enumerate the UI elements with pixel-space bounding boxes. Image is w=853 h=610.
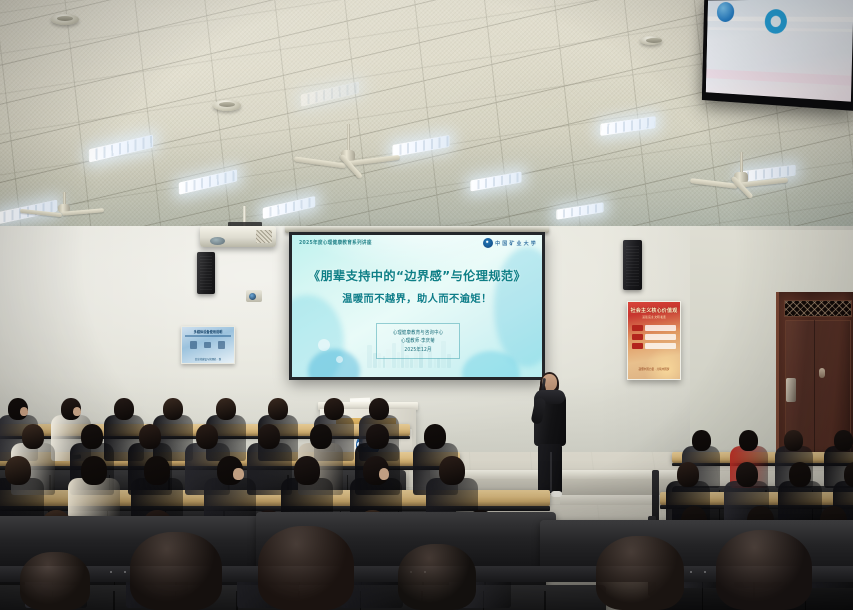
poster-sun-glow — [644, 347, 681, 380]
audience-member-head — [258, 424, 280, 449]
foreground-head — [20, 552, 90, 610]
smoke-detector-icon — [213, 100, 241, 111]
ceiling-fan — [318, 124, 378, 186]
audience-member-head — [736, 462, 758, 487]
slide-title: 《朋辈支持中的“边界感”与伦理规范》 — [292, 266, 542, 284]
university-logo: 中 国 矿 业 大 学 — [483, 238, 536, 248]
audience-member-head — [677, 462, 699, 487]
audience-member-head — [139, 424, 161, 449]
foreground-head — [130, 532, 222, 610]
audience-member-head — [844, 462, 853, 487]
slide-subtitle: 温暖而不越界，助人而不逾矩！ — [292, 290, 542, 305]
foreground-head — [258, 526, 354, 610]
audience-member-head — [366, 424, 388, 449]
audience-member-head — [22, 424, 44, 449]
slide-presenter-card: 心理健康教育与咨询中心 心理教师·李庆菊 2025年12月 — [376, 323, 460, 359]
audience-member-head — [216, 398, 236, 420]
monitor-screen — [706, 0, 853, 102]
audience-member-head — [369, 398, 389, 420]
audience-member-head — [268, 398, 288, 420]
audience-member-head — [324, 398, 344, 420]
foreground-head — [716, 530, 812, 610]
poster-right-footer: 凝聚中国力量 · 共筑中国梦 — [628, 367, 680, 371]
audience-member-head — [739, 430, 758, 451]
audience-member-face — [379, 468, 389, 480]
audience-member-head — [439, 456, 465, 485]
lecture-hall-screenshot: 2025年度心理健康教育系列讲座 中 国 矿 业 大 学 《朋辈支持中的“边界感… — [0, 0, 853, 610]
foreground-audience-member — [258, 526, 354, 610]
slide-card-line: 2025年12月 — [404, 346, 431, 353]
projector-vent — [256, 230, 272, 243]
university-logo-text: 中 国 矿 业 大 学 — [495, 240, 536, 247]
audience-member-head — [81, 424, 103, 449]
foreground-audience-member — [716, 530, 812, 610]
rail-fastener — [704, 571, 706, 573]
foreground-audience-member — [130, 532, 222, 610]
slide-decor-dot — [318, 339, 330, 351]
projection-screen: 2025年度心理健康教育系列讲座 中 国 矿 业 大 学 《朋辈支持中的“边界感… — [289, 232, 545, 380]
presentation-slide: 2025年度心理健康教育系列讲座 中 国 矿 业 大 学 《朋辈支持中的“边界感… — [292, 235, 542, 377]
audience-member-face — [233, 468, 243, 480]
audience-member-head — [294, 456, 320, 485]
audience-member-head — [81, 456, 107, 485]
wall-speaker-right — [623, 240, 642, 290]
audience-member-head — [163, 398, 183, 420]
audience-member-head — [692, 430, 711, 451]
poster-left-title: 多媒体设备使用说明 — [182, 329, 234, 334]
slide-decor-dot — [336, 356, 343, 363]
audience-member-head — [784, 430, 803, 451]
door-seam — [814, 320, 815, 458]
wall-speaker-left — [197, 252, 215, 294]
projector-lens-icon — [210, 237, 225, 245]
poster-right-title: 社会主义核心价值观 — [628, 307, 680, 314]
slide-header-text: 2025年度心理健康教育系列讲座 — [299, 240, 372, 247]
audience-member-head — [834, 430, 853, 451]
audience-member-head — [196, 424, 218, 449]
audience-member-head — [789, 462, 811, 487]
foreground-audience-member — [398, 544, 476, 610]
poster-equipment-instructions: 多媒体设备使用说明 信息化建设与管理处 · 制 — [181, 326, 235, 364]
audience-member-head — [114, 398, 134, 420]
audience-member-head — [424, 424, 446, 449]
presenter — [528, 374, 572, 500]
door-handle-icon[interactable] — [786, 378, 796, 402]
poster-left-figure — [190, 341, 197, 349]
poster-left-figure — [204, 342, 211, 348]
ceiling-fan — [712, 152, 770, 210]
poster-left-figure — [218, 341, 225, 349]
screen-frame: 2025年度心理健康教育系列讲座 中 国 矿 业 大 学 《朋辈支持中的“边界感… — [289, 232, 545, 380]
poster-left-divider — [185, 335, 231, 337]
audience-member-head — [5, 456, 31, 485]
foreground-head — [596, 536, 684, 610]
foreground-audience-member — [596, 536, 684, 610]
presenter-shoe — [551, 491, 562, 497]
smoke-detector-icon — [640, 36, 662, 45]
audience-member-head — [310, 424, 332, 449]
door-peephole-icon — [819, 368, 825, 378]
presenter-leg-split — [550, 452, 552, 492]
audience-member-head — [144, 456, 170, 485]
foreground-head — [398, 544, 476, 610]
poster-core-values: 社会主义核心价值观 富强 民主 文明 和谐 凝聚中国力量 · 共筑中国梦 — [627, 301, 681, 380]
slide-card-line: 心理健康教育与咨询中心 — [393, 329, 444, 336]
foreground-audience-member — [20, 552, 90, 610]
slide-card-line: 心理教师·李庆菊 — [401, 338, 435, 345]
door-transom-window — [784, 300, 852, 317]
wall-display-monitor[interactable] — [702, 0, 853, 111]
poster-right-subtitle: 富强 民主 文明 和谐 — [628, 315, 680, 319]
ceiling-projector — [200, 226, 276, 247]
rail-fastener — [124, 571, 126, 573]
wall-camera-icon — [246, 290, 262, 302]
rail-fastener — [110, 571, 112, 573]
poster-value-row — [632, 324, 676, 331]
smoke-detector-icon — [51, 14, 79, 25]
university-emblem-icon — [483, 238, 493, 248]
rail-fastener — [690, 571, 692, 573]
poster-value-row — [632, 333, 676, 340]
poster-value-row — [632, 342, 676, 349]
poster-left-footer: 信息化建设与管理处 · 制 — [182, 357, 234, 361]
